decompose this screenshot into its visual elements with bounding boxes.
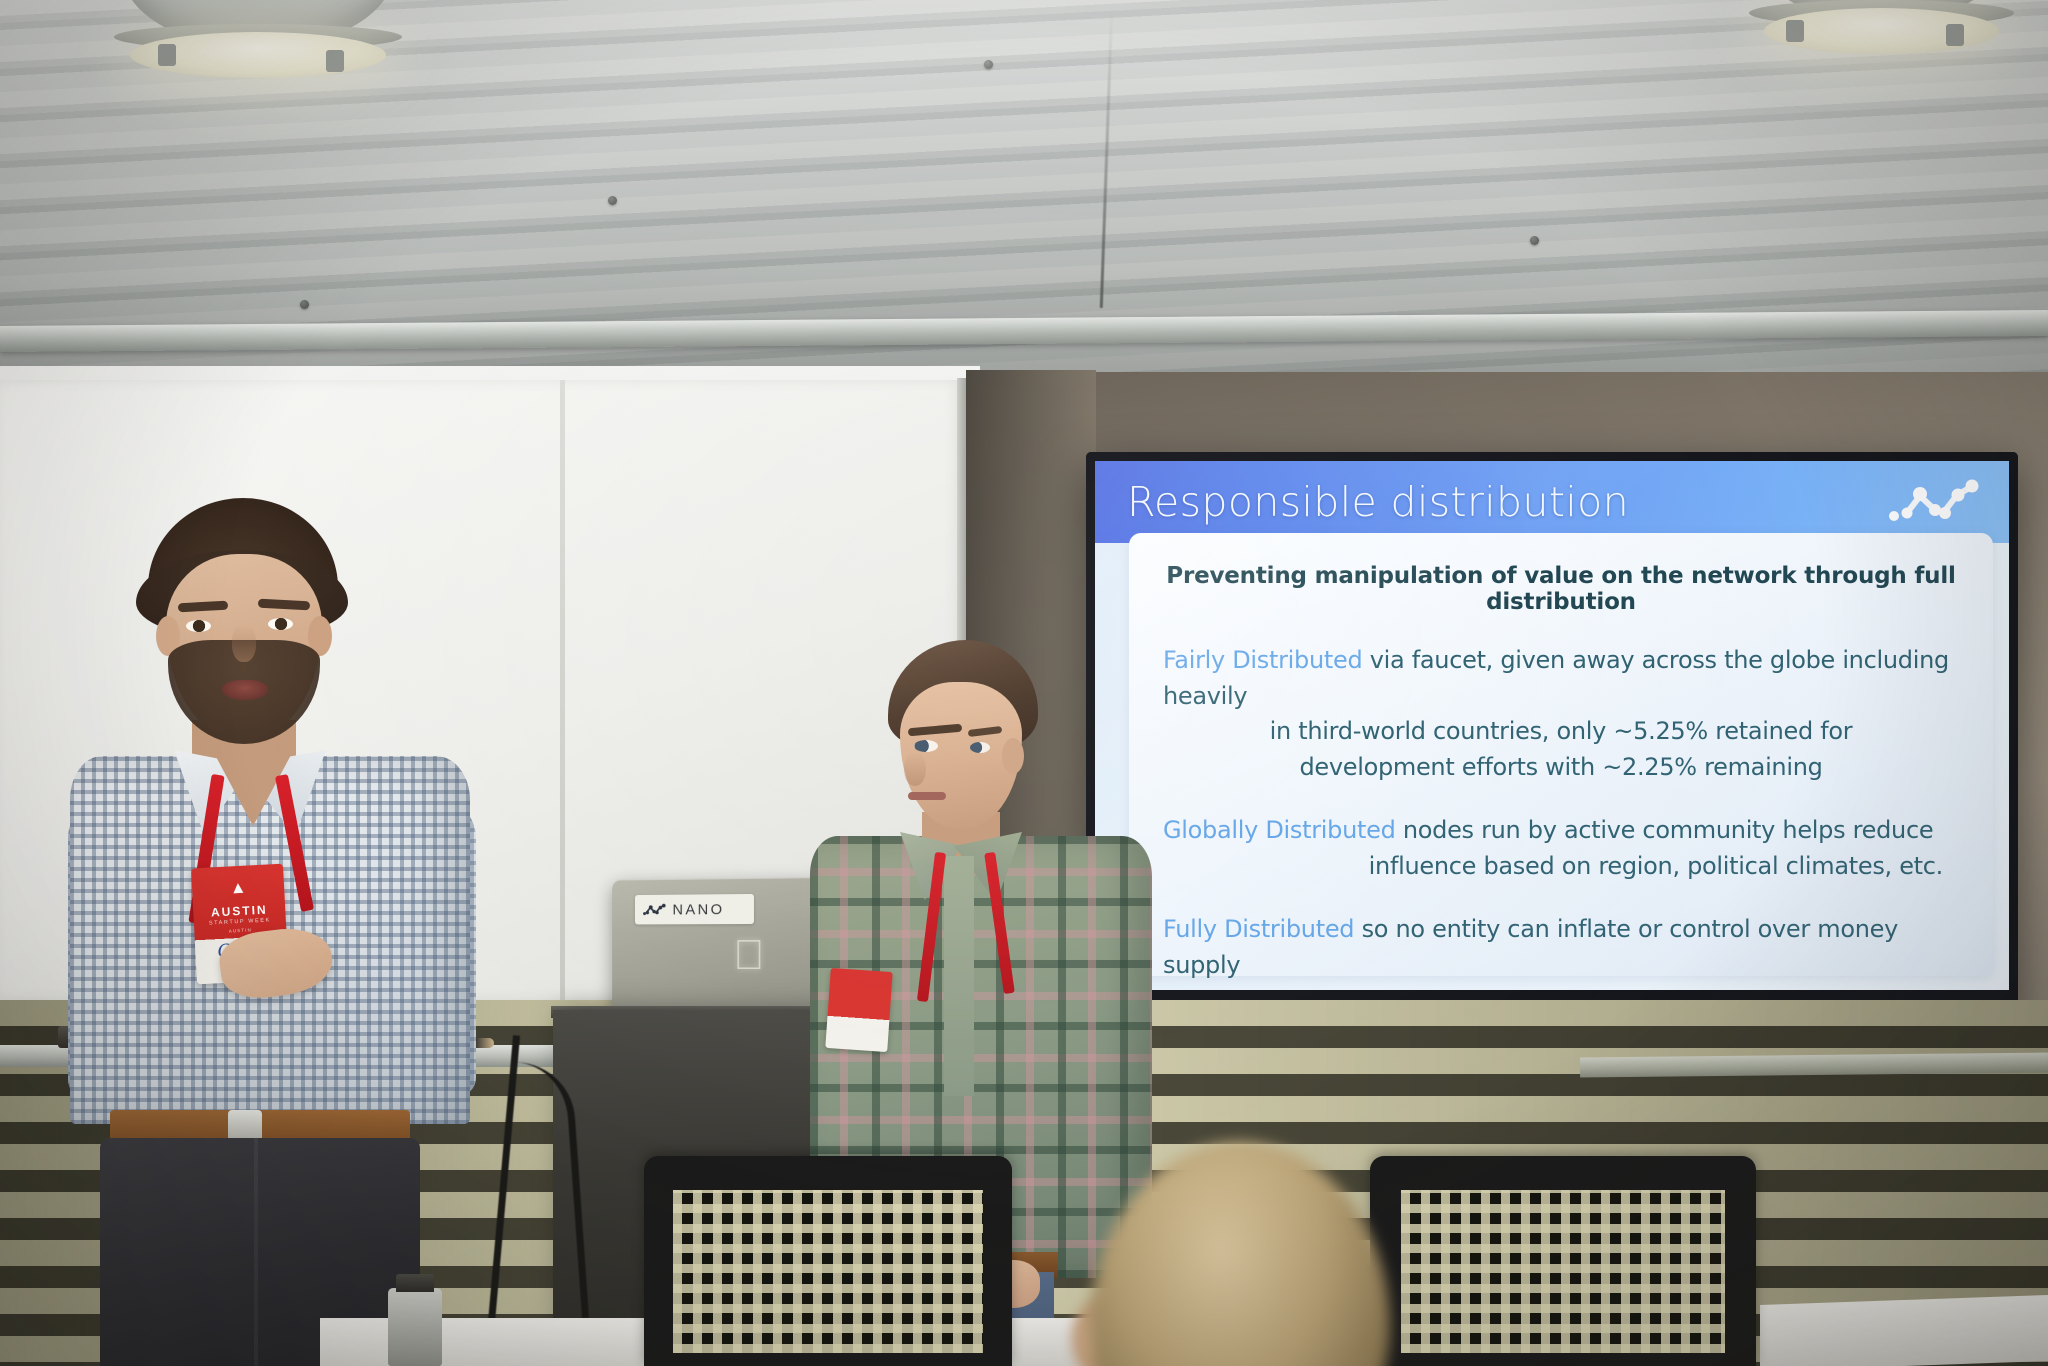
mouth [908, 792, 946, 800]
eye [970, 742, 990, 753]
shirt-placket [944, 856, 974, 1096]
speaker-left: ▲ AUSTIN STARTUP WEEK AUSTIN Colin [82, 498, 502, 1366]
nose [904, 752, 926, 786]
nose [232, 624, 256, 662]
nano-logo-icon [643, 903, 666, 916]
chair-mesh-back [673, 1190, 982, 1354]
chair [644, 1156, 1012, 1366]
display-bezel [1086, 452, 2018, 1018]
flame-icon: ▲ [229, 878, 247, 899]
chair [1370, 1156, 1756, 1366]
conference-badge [825, 968, 892, 1052]
chair-mesh-back [1401, 1190, 1725, 1354]
lamp-clip [158, 44, 176, 66]
eye [186, 620, 211, 632]
lamp-clip [1786, 20, 1804, 42]
whiteboard-seam [560, 380, 565, 1000]
nano-sticker-label: NANO [672, 901, 724, 918]
bottle-cap [396, 1274, 434, 1292]
pendant-lamp [1756, 0, 2006, 60]
mouth [222, 680, 268, 700]
wall-display: Responsible distribution [1086, 452, 2018, 1018]
table-right [1760, 1295, 2048, 1366]
pendant-lamp [122, 0, 394, 80]
apple-logo-icon:  [733, 934, 764, 976]
photo-scene: Responsible distribution [0, 0, 2048, 1366]
water-bottle [388, 1288, 442, 1366]
ear [1002, 738, 1024, 774]
eye [268, 618, 293, 630]
eye [914, 740, 938, 752]
lamp-clip [1946, 24, 1964, 46]
lamp-clip [326, 50, 344, 72]
nano-sticker: NANO [635, 894, 754, 925]
